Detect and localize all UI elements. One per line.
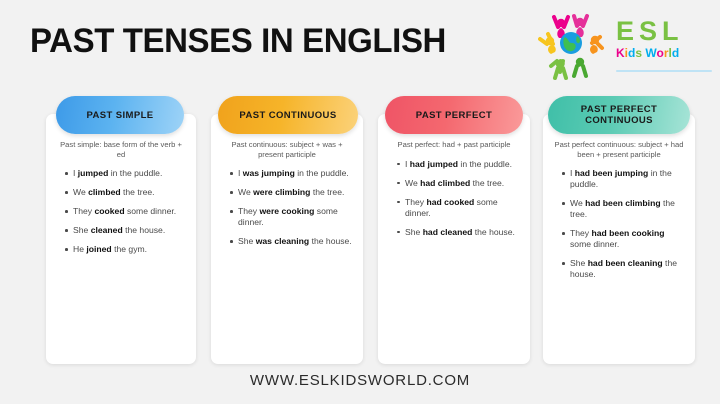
list-item: They were cooking some dinner. (230, 206, 353, 228)
page-title: PAST TENSES IN ENGLISH (30, 22, 446, 61)
logo-underline (616, 70, 712, 72)
list-item: They had been cooking some dinner. (562, 228, 685, 250)
tense-formula-past-perfect-continuous: Past perfect continuous: subject + had b… (553, 140, 685, 159)
tense-badge-past-simple: PAST SIMPLE (56, 96, 184, 134)
tense-badge-past-continuous: PAST CONTINUOUS (218, 96, 358, 134)
tense-card-past-perfect-continuous: Past perfect continuous: subject + had b… (543, 114, 695, 364)
tense-badge-past-perfect: PAST PERFECT (385, 96, 523, 134)
list-item: I had been jumping in the puddle. (562, 168, 685, 190)
list-item: I was jumping in the puddle. (230, 168, 353, 179)
list-item: We were climbing the tree. (230, 187, 353, 198)
infographic-page: PAST TENSES IN ENGLISH (0, 0, 720, 404)
examples-list-past-perfect-continuous: I had been jumping in the puddle. We had… (553, 168, 685, 280)
list-item: I jumped in the puddle. (65, 168, 186, 179)
children-around-globe-icon (538, 10, 610, 80)
logo-wordmark: ESL Kids World (616, 18, 714, 59)
examples-list-past-continuous: I was jumping in the puddle. We were cli… (221, 168, 353, 247)
list-item: She was cleaning the house. (230, 236, 353, 247)
esl-kids-world-logo: ESL Kids World (538, 8, 714, 82)
tense-card-past-simple: Past simple: base form of the verb + ed … (46, 114, 196, 364)
list-item: He joined the gym. (65, 244, 186, 255)
tense-formula-past-perfect: Past perfect: had + past participle (388, 140, 520, 150)
logo-tagline-text: Kids World (616, 47, 714, 59)
logo-brand-text: ESL (616, 18, 714, 45)
list-item: We had climbed the tree. (397, 178, 520, 189)
tense-card-past-continuous: Past continuous: subject + was + present… (211, 114, 363, 364)
list-item: They had cooked some dinner. (397, 197, 520, 219)
header: PAST TENSES IN ENGLISH (0, 0, 720, 88)
list-item: She cleaned the house. (65, 225, 186, 236)
tense-cards-row: Past simple: base form of the verb + ed … (0, 96, 720, 368)
list-item: We climbed the tree. (65, 187, 186, 198)
list-item: We had been climbing the tree. (562, 198, 685, 220)
tense-formula-past-simple: Past simple: base form of the verb + ed (56, 140, 186, 159)
list-item: I had jumped in the puddle. (397, 159, 520, 170)
list-item: She had been cleaning the house. (562, 258, 685, 280)
examples-list-past-simple: I jumped in the puddle. We climbed the t… (56, 168, 186, 255)
tense-badge-past-perfect-continuous: PAST PERFECT CONTINUOUS (548, 96, 690, 134)
examples-list-past-perfect: I had jumped in the puddle. We had climb… (388, 159, 520, 238)
tense-card-past-perfect: Past perfect: had + past participle I ha… (378, 114, 530, 364)
list-item: They cooked some dinner. (65, 206, 186, 217)
tense-formula-past-continuous: Past continuous: subject + was + present… (221, 140, 353, 159)
footer-url: WWW.ESLKIDSWORLD.COM (0, 372, 720, 389)
list-item: She had cleaned the house. (397, 227, 520, 238)
